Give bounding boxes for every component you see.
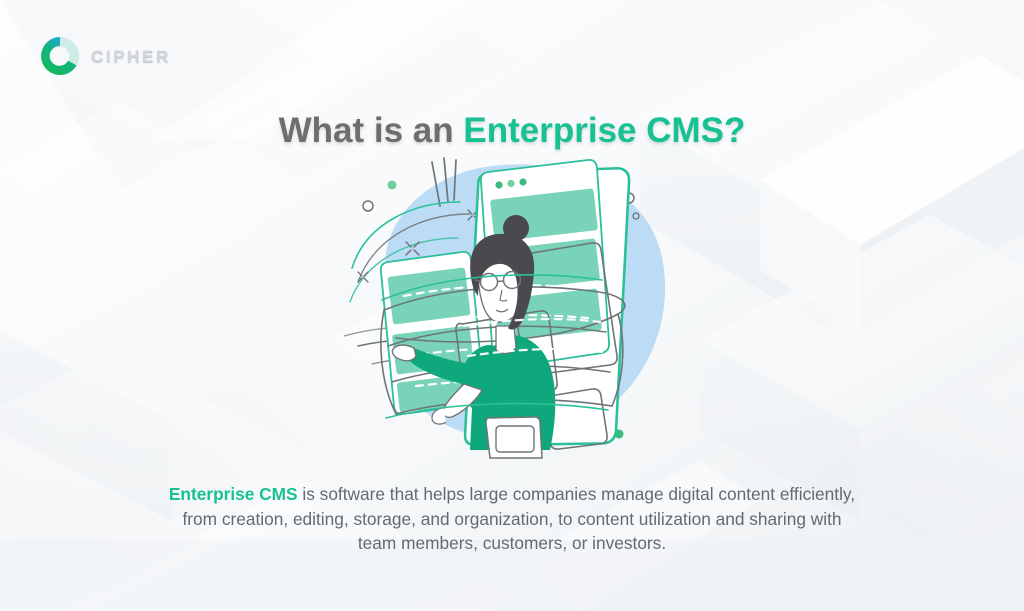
brand-wordmark: CIPHER bbox=[91, 48, 171, 65]
body-line-3: team members, customers, or investors. bbox=[108, 531, 916, 556]
body-paragraph: Enterprise CMS is software that helps la… bbox=[108, 482, 916, 556]
brand-logo[interactable]: CIPHER bbox=[38, 34, 171, 78]
slide-canvas: CIPHER What is an Enterprise CMS? bbox=[0, 0, 1024, 611]
body-line-1-rest: is software that helps large companies m… bbox=[298, 484, 855, 504]
title-lead: What is an bbox=[279, 111, 464, 150]
cipher-c-logo-icon bbox=[38, 34, 82, 78]
title-accent: Enterprise CMS? bbox=[463, 111, 745, 150]
page-title: What is an Enterprise CMS? bbox=[0, 111, 1024, 151]
body-accent-term: Enterprise CMS bbox=[169, 484, 298, 504]
body-line-1: Enterprise CMS is software that helps la… bbox=[108, 482, 916, 507]
hero-illustration bbox=[344, 150, 684, 470]
body-line-2: from creation, editing, storage, and org… bbox=[108, 507, 916, 532]
illustration-svg bbox=[344, 150, 684, 470]
